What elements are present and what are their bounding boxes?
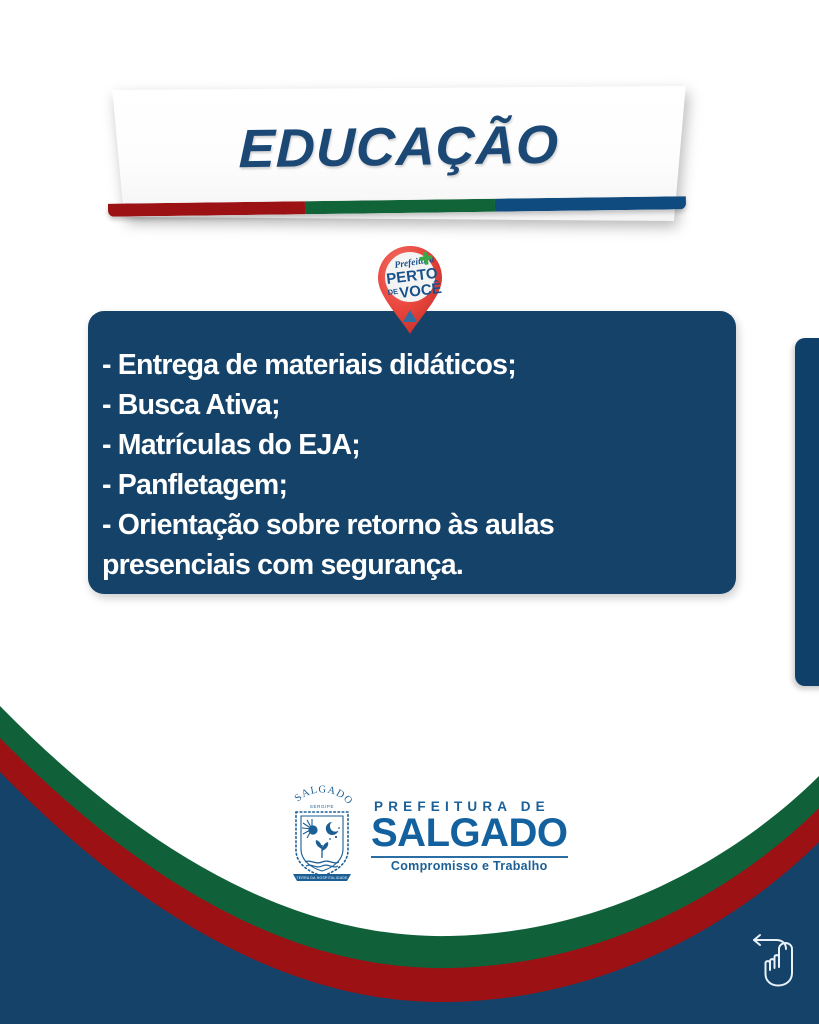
brand-city-name: SALGADO — [371, 813, 568, 854]
swipe-left-hand-icon[interactable] — [748, 930, 800, 988]
content-panel: - Entrega de materiais didáticos; - Busc… — [88, 311, 736, 594]
page-title: EDUCAÇÃO — [103, 112, 695, 182]
list-item: - Busca Ativa; — [102, 385, 722, 425]
salgado-coat-of-arms-icon: SALGADO SERGIPE — [283, 784, 361, 882]
accent-bar-green-segment — [304, 199, 495, 214]
list-item: - Orientação sobre retorno às aulas pres… — [102, 505, 722, 585]
svg-text:SERGIPE: SERGIPE — [310, 804, 334, 809]
brand-slogan: Compromisso e Trabalho — [371, 860, 568, 873]
list-item: - Panfletagem; — [102, 465, 722, 505]
next-card-peek-panel[interactable] — [795, 338, 819, 686]
accent-bar-blue-segment — [495, 196, 686, 211]
footer-brand-logo: SALGADO SERGIPE — [283, 783, 533, 883]
list-item: - Entrega de materiais didáticos; — [102, 345, 722, 385]
location-pin-icon: Prefeitura PERTO DE VOCÊ — [375, 244, 445, 336]
service-list: - Entrega de materiais didáticos; - Busc… — [102, 345, 722, 585]
svg-text:DE: DE — [387, 287, 398, 297]
brand-wordmark: PREFEITURA DE SALGADO Compromisso e Trab… — [371, 794, 568, 872]
poster-canvas: EDUCAÇÃO - Entrega de materiais didático… — [0, 0, 819, 1024]
brand-divider — [371, 856, 568, 858]
list-item: - Matrículas do EJA; — [102, 425, 722, 465]
svg-text:TERRA DA HOSPITALIDADE: TERRA DA HOSPITALIDADE — [296, 876, 348, 880]
accent-bar-red-segment — [108, 201, 305, 217]
